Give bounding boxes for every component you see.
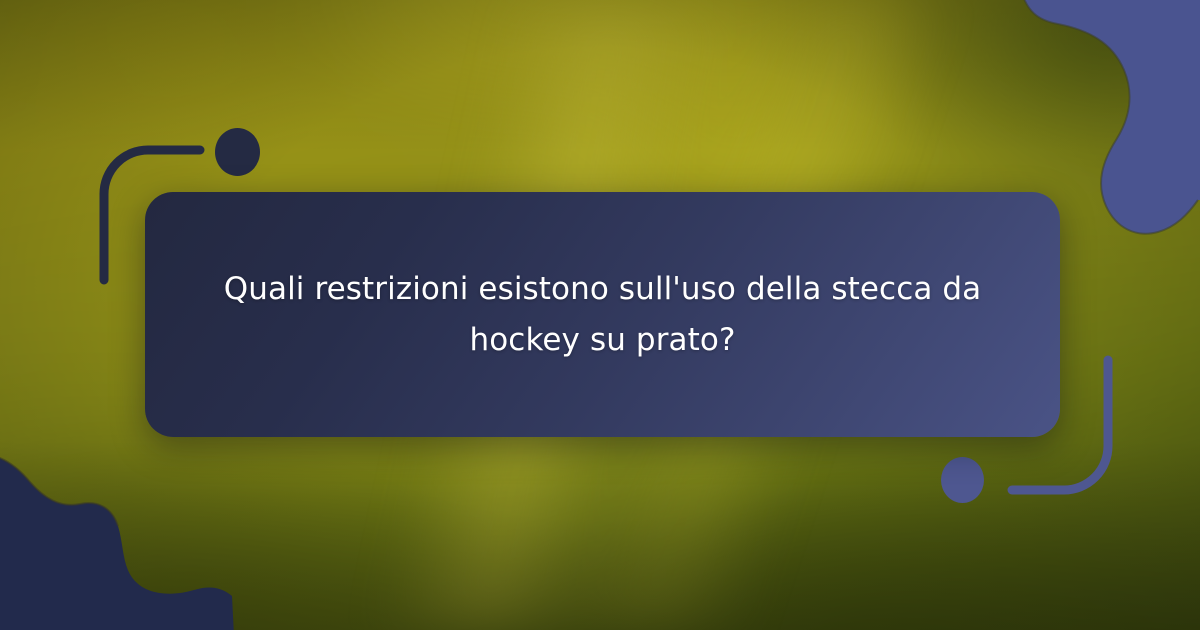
question-text: Quali restrizioni esistono sull'uso dell… xyxy=(209,264,996,364)
question-card-canvas: Quali restrizioni esistono sull'uso dell… xyxy=(0,0,1200,630)
accent-dot-bottom-right-icon xyxy=(941,457,984,503)
accent-dot-top-left-icon xyxy=(215,128,260,176)
question-card: Quali restrizioni esistono sull'uso dell… xyxy=(145,192,1060,437)
